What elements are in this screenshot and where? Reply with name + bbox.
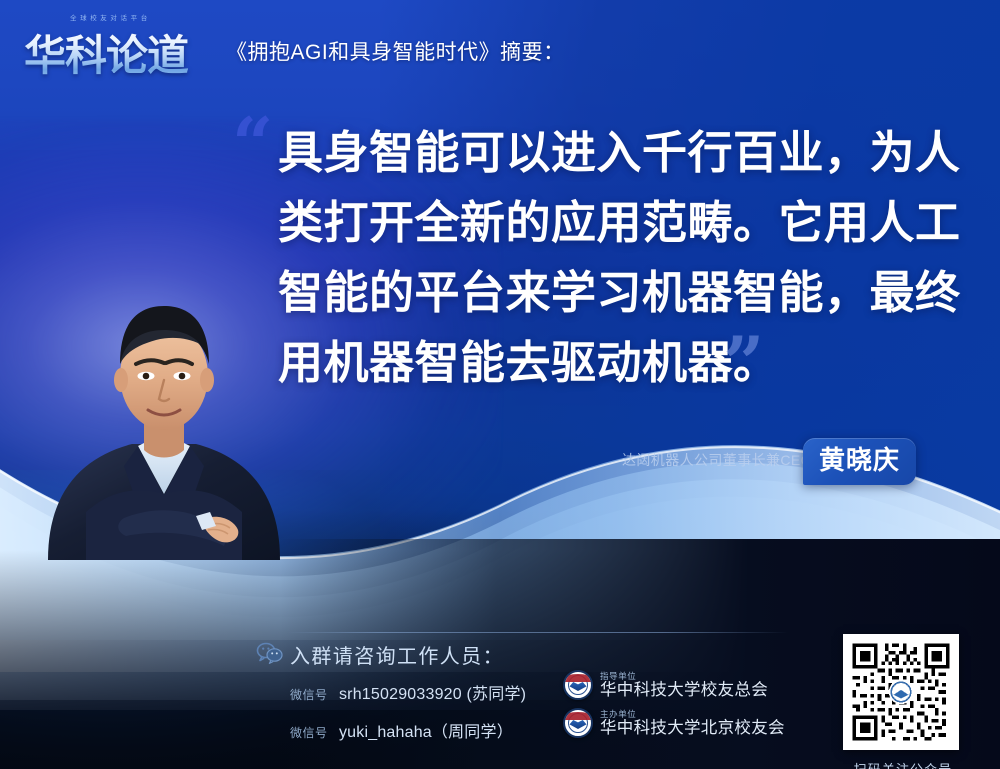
brand-logo[interactable]: 全球校友对话平台 华科论道 — [24, 12, 210, 74]
qr-section: 扫码关注公众号 — [843, 634, 963, 769]
qr-caption: 扫码关注公众号 — [843, 759, 963, 769]
organization-role: 指导单位 — [600, 672, 768, 681]
quote-line: 智能的平台来学习机器智能，最终 — [278, 258, 948, 328]
header: 全球校友对话平台 华科论道 《拥抱AGI和具身智能时代》摘要： — [0, 0, 1000, 92]
wechat-icon — [256, 642, 284, 664]
contact-label: 微信号 — [290, 726, 328, 740]
organization-row: 指导单位 华中科技大学校友总会 — [563, 670, 768, 700]
contact-value[interactable]: yuki_hahaha（周同学） — [339, 724, 513, 741]
organization-row: 主办单位 华中科技大学北京校友会 — [563, 708, 785, 738]
footer-divider — [288, 632, 788, 633]
contact-row: 微信号 yuki_hahaha（周同学） — [290, 718, 513, 742]
organization-name: 华中科技大学北京校友会 — [600, 720, 785, 737]
organization-role: 主办单位 — [600, 710, 785, 719]
poster-canvas: 全球校友对话平台 华科论道 《拥抱AGI和具身智能时代》摘要： “ 具身智能可以… — [0, 0, 1000, 769]
logo-tagline: 全球校友对话平台 — [70, 12, 151, 22]
page-title: 《拥抱AGI和具身智能时代》摘要： — [226, 36, 565, 66]
contact-label: 微信号 — [290, 688, 328, 702]
speaker-role: 达闼机器人公司董事长兼CEO — [622, 450, 812, 470]
quote-line: 用机器智能去驱动机器。 — [278, 328, 948, 398]
quote-text: 具身智能可以进入千行百业，为人 类打开全新的应用范畴。它用人工 智能的平台来学习… — [278, 118, 948, 398]
contact-row: 微信号 srh15029033920 (苏同学) — [290, 680, 526, 704]
speaker-name-badge: 黄晓庆 — [803, 438, 916, 485]
quote-close-mark: ” — [723, 327, 760, 399]
logo-wordmark: 华科论道 — [24, 22, 188, 83]
join-group-title: 入群请咨询工作人员： — [290, 640, 504, 669]
qr-code[interactable] — [843, 634, 959, 750]
quote-line: 具身智能可以进入千行百业，为人 — [278, 118, 948, 188]
university-seal-icon — [563, 708, 593, 738]
organization-name: 华中科技大学校友总会 — [600, 682, 768, 699]
university-seal-icon — [563, 670, 593, 700]
speaker-portrait — [28, 280, 298, 560]
quote-open-mark: “ — [232, 108, 269, 180]
quote-line: 类打开全新的应用范畴。它用人工 — [278, 188, 948, 258]
contact-value[interactable]: srh15029033920 (苏同学) — [339, 686, 526, 703]
